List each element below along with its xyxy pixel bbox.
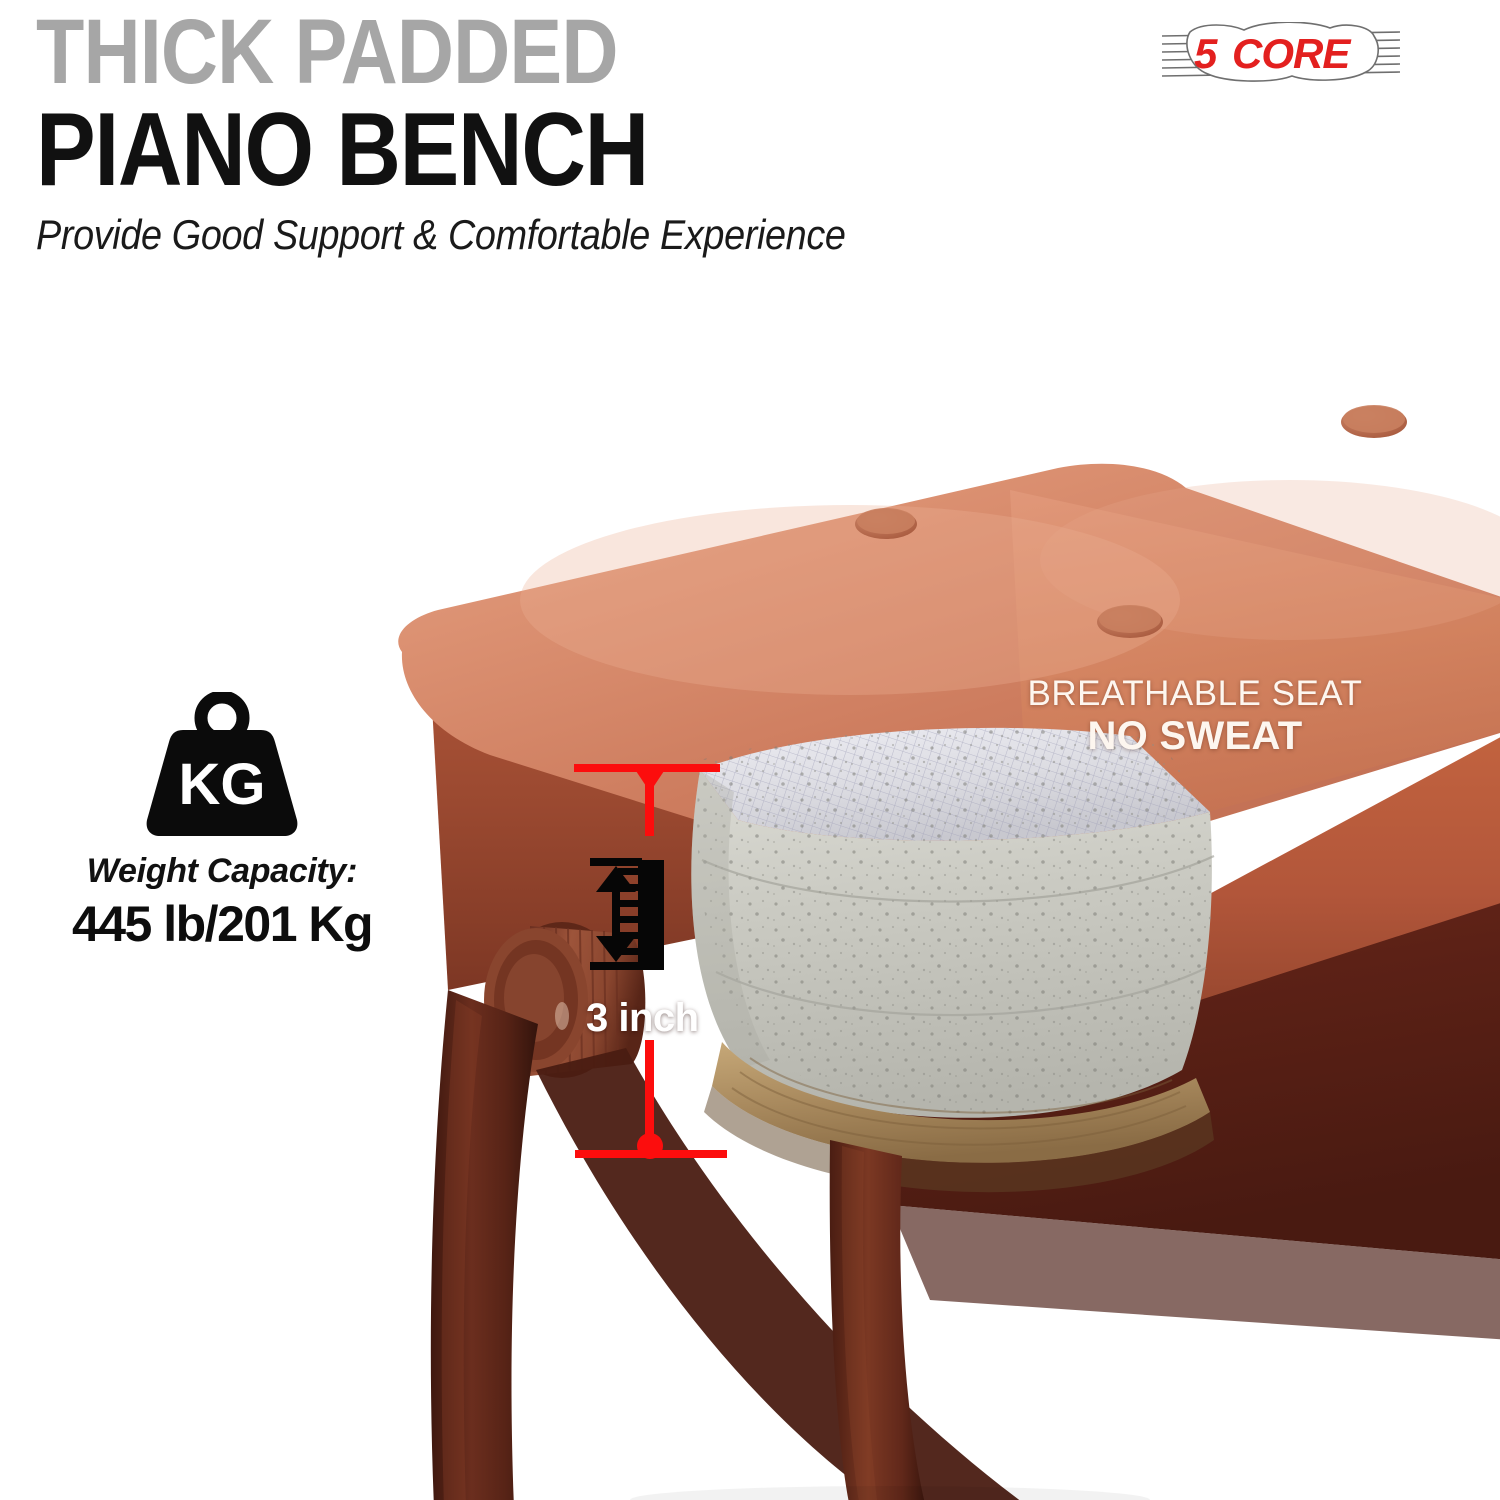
thickness-measurement-annotation — [560, 740, 760, 1190]
poster-canvas: THICK PADDED PIANO BENCH Provide Good Su… — [0, 0, 1500, 1500]
page-title: PIANO BENCH — [36, 101, 948, 200]
headline-block: THICK PADDED PIANO BENCH Provide Good Su… — [36, 10, 1096, 258]
measure-top-marker — [574, 764, 720, 836]
measure-bottom-marker — [575, 1040, 727, 1159]
headline-subtitle: Provide Good Support & Comfortable Exper… — [36, 213, 990, 257]
weight-capacity-block: KG Weight Capacity: 445 lb/201 Kg — [22, 692, 422, 953]
headline-eyebrow: THICK PADDED — [36, 10, 948, 95]
product-image-piano-bench — [330, 300, 1500, 1500]
breathable-seat-callout: BREATHABLE SEAT NO SWEAT — [1005, 676, 1385, 757]
weight-icon-label: KG — [179, 752, 266, 817]
callout-line-1: BREATHABLE SEAT — [1005, 676, 1385, 713]
ruler-icon — [618, 860, 664, 970]
brand-logo-5core: 5 CORE — [1160, 22, 1402, 84]
weight-kg-icon: KG — [137, 692, 307, 842]
weight-capacity-label: Weight Capacity: — [22, 852, 422, 891]
logo-word: CORE — [1232, 30, 1352, 77]
logo-digit: 5 — [1194, 30, 1218, 77]
weight-capacity-value: 445 lb/201 Kg — [22, 895, 422, 953]
thickness-label: 3 inch — [586, 996, 699, 1041]
callout-line-2: NO SWEAT — [1005, 715, 1385, 757]
